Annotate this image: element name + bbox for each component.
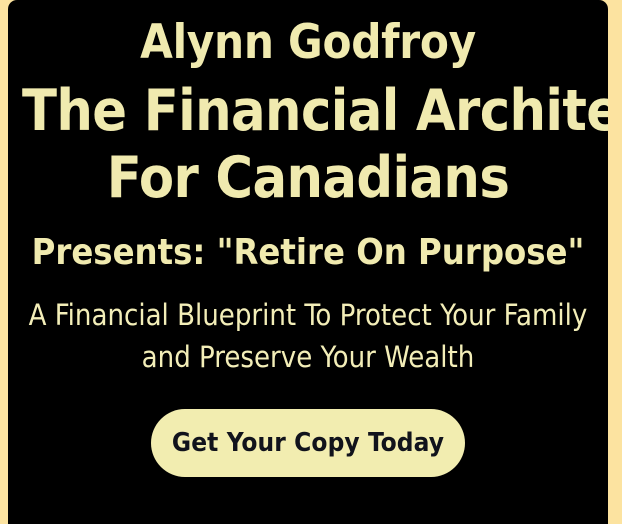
landing-page: Alynn Godfroy The Financial Architect Fo…: [0, 0, 622, 518]
page-title-line-1: The Financial Architect: [22, 78, 594, 145]
presents-subtitle: Presents: "Retire On Purpose": [32, 235, 585, 271]
hero-subcopy-line-2: and Preserve Your Wealth: [29, 337, 588, 378]
hero-subcopy-line-1: A Financial Blueprint To Protect Your Fa…: [29, 295, 588, 336]
headline-block: Alynn Godfroy The Financial Architect Fo…: [22, 0, 594, 211]
hero-subcopy: A Financial Blueprint To Protect Your Fa…: [29, 295, 588, 377]
get-your-copy-button[interactable]: Get Your Copy Today: [151, 409, 465, 477]
hero-card: Alynn Godfroy The Financial Architect Fo…: [8, 0, 608, 524]
page-title: The Financial Architect For Canadians: [22, 78, 594, 211]
presenter-name: Alynn Godfroy: [22, 19, 594, 66]
cta-container: Get Your Copy Today: [22, 409, 594, 477]
page-title-line-2: For Canadians: [22, 145, 594, 212]
